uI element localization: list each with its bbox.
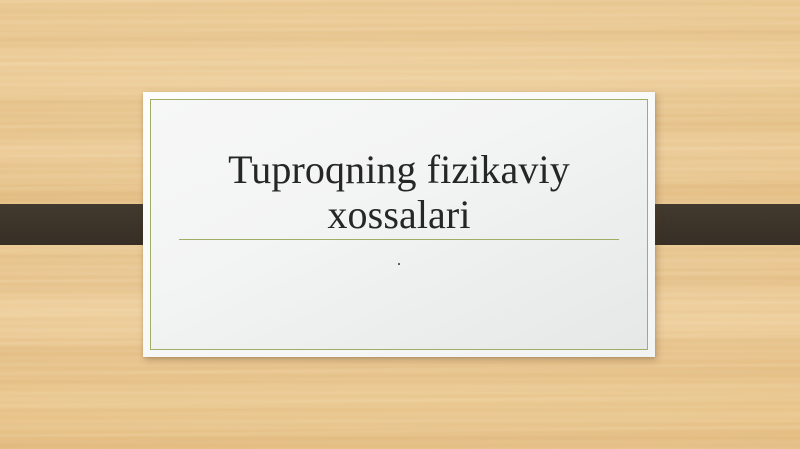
presentation-stage: Tuproqning fizikaviy xossalari . bbox=[0, 0, 800, 449]
slide-inner-frame: Tuproqning fizikaviy xossalari . bbox=[150, 99, 648, 350]
title-block: Tuproqning fizikaviy xossalari . bbox=[179, 148, 619, 268]
slide-title: Tuproqning fizikaviy xossalari bbox=[179, 148, 619, 238]
slide-subtitle: . bbox=[179, 251, 619, 268]
decorative-band-right bbox=[638, 204, 800, 245]
decorative-band-left bbox=[0, 204, 161, 245]
title-underline-rule bbox=[179, 239, 619, 240]
slide-card: Tuproqning fizikaviy xossalari . bbox=[143, 92, 655, 357]
